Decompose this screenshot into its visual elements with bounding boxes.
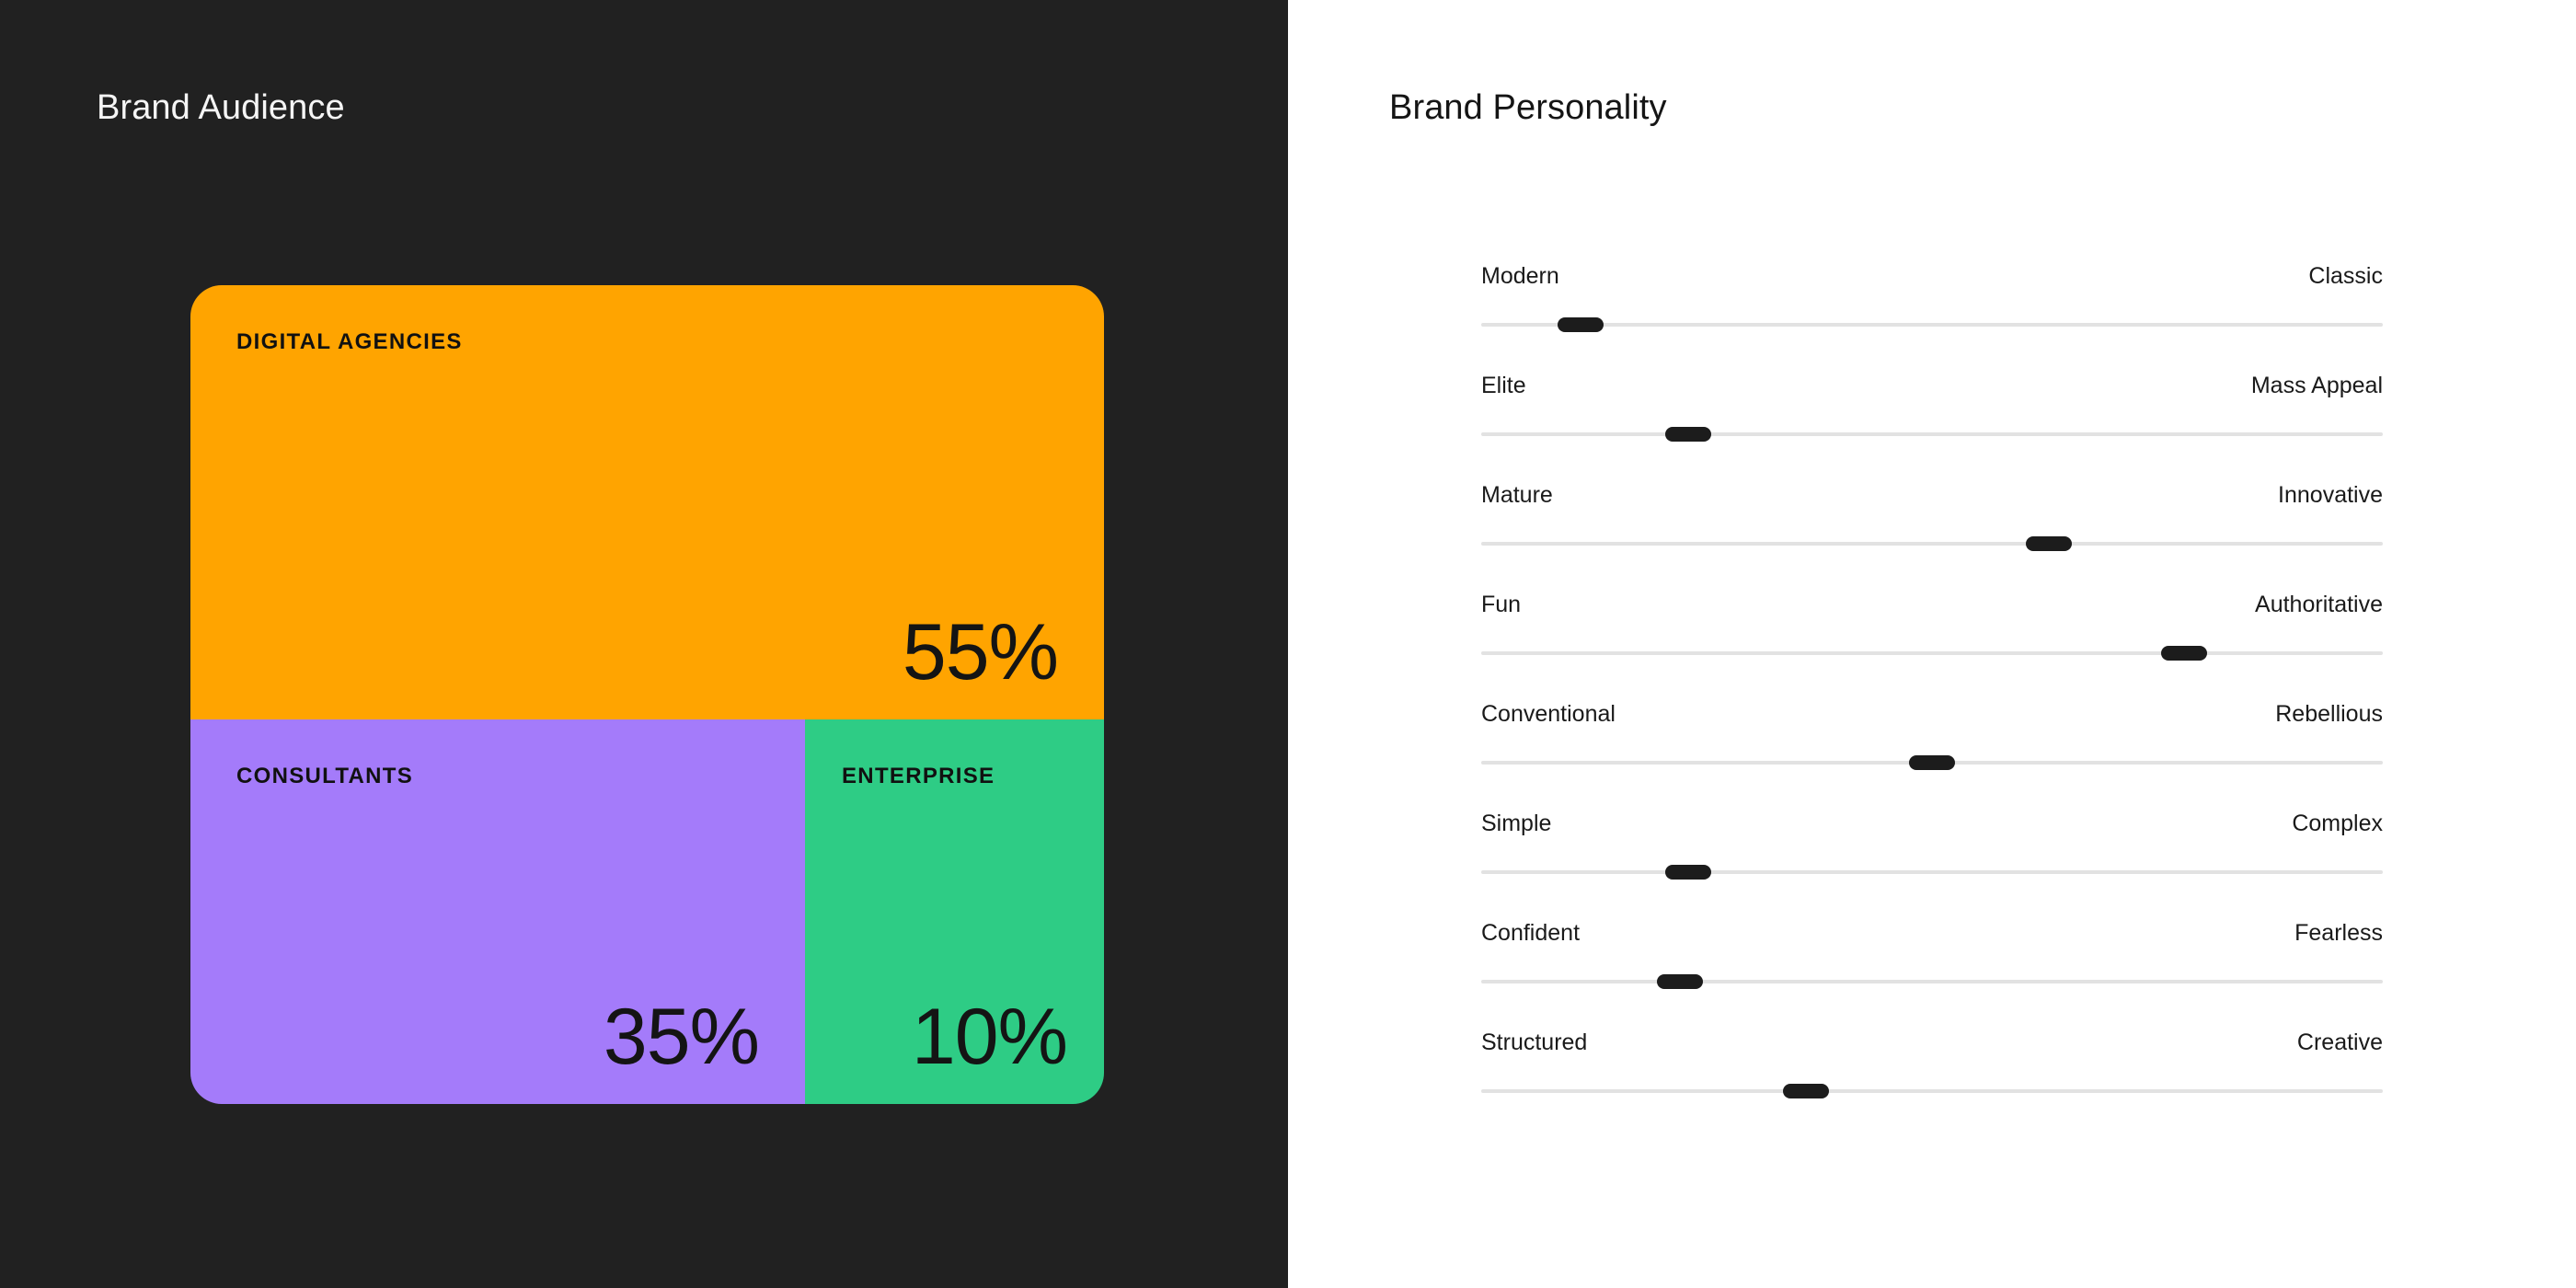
treemap-tile-label: ENTERPRISE (842, 764, 995, 789)
slider-track[interactable] (1481, 1089, 2383, 1093)
slider-track[interactable] (1481, 323, 2383, 327)
slider-label-left: Elite (1481, 372, 1526, 399)
slider-label-pair: MatureInnovative (1481, 481, 2383, 509)
slider-track-wrap[interactable] (1481, 425, 2383, 443)
treemap-row-bottom: CONSULTANTS 35% ENTERPRISE 10% (190, 719, 1104, 1104)
slider-label-pair: FunAuthoritative (1481, 591, 2383, 618)
slider-handle[interactable] (1657, 974, 1703, 989)
slider-label-left: Fun (1481, 591, 1521, 618)
treemap-tile-digital-agencies[interactable]: DIGITAL AGENCIES 55% (190, 285, 1104, 719)
treemap-tile-value: 55% (903, 613, 1058, 692)
treemap-tile-consultants[interactable]: CONSULTANTS 35% (190, 719, 805, 1104)
slider-handle[interactable] (1558, 317, 1604, 332)
slider-label-right: Rebellious (2275, 700, 2383, 728)
slider-handle[interactable] (1665, 865, 1711, 880)
brand-audience-title: Brand Audience (97, 88, 345, 128)
slider-label-right: Complex (2292, 810, 2383, 837)
treemap-tile-enterprise[interactable]: ENTERPRISE 10% (805, 719, 1104, 1104)
treemap-tile-label: CONSULTANTS (236, 764, 413, 789)
personality-slider-row[interactable]: FunAuthoritative (1481, 591, 2383, 700)
slider-handle[interactable] (1783, 1084, 1829, 1098)
treemap-tile-value: 35% (604, 997, 759, 1076)
slider-label-left: Simple (1481, 810, 1551, 837)
brand-audience-panel: Brand Audience DIGITAL AGENCIES 55% CONS… (0, 0, 1288, 1288)
personality-slider-row[interactable]: ModernClassic (1481, 262, 2383, 372)
slider-label-pair: SimpleComplex (1481, 810, 2383, 837)
slider-label-right: Mass Appeal (2251, 372, 2383, 399)
slider-track[interactable] (1481, 432, 2383, 436)
slider-handle[interactable] (2026, 536, 2072, 551)
slider-track-wrap[interactable] (1481, 753, 2383, 772)
slider-label-left: Confident (1481, 919, 1580, 947)
brand-board: Brand Audience DIGITAL AGENCIES 55% CONS… (0, 0, 2576, 1288)
slider-label-right: Classic (2308, 262, 2383, 290)
slider-label-pair: ModernClassic (1481, 262, 2383, 290)
slider-track-wrap[interactable] (1481, 972, 2383, 991)
personality-slider-list: ModernClassicEliteMass AppealMatureInnov… (1481, 262, 2383, 1138)
personality-slider-row[interactable]: ConventionalRebellious (1481, 700, 2383, 810)
audience-treemap: DIGITAL AGENCIES 55% CONSULTANTS 35% ENT… (190, 285, 1104, 1104)
slider-label-pair: ConfidentFearless (1481, 919, 2383, 947)
slider-handle[interactable] (1909, 755, 1955, 770)
slider-track[interactable] (1481, 542, 2383, 546)
slider-label-pair: EliteMass Appeal (1481, 372, 2383, 399)
slider-label-left: Structured (1481, 1029, 1587, 1056)
personality-slider-row[interactable]: MatureInnovative (1481, 481, 2383, 591)
treemap-tile-value: 10% (912, 997, 1067, 1076)
slider-handle[interactable] (1665, 427, 1711, 442)
slider-track-wrap[interactable] (1481, 644, 2383, 662)
slider-track-wrap[interactable] (1481, 1082, 2383, 1100)
treemap-row-top: DIGITAL AGENCIES 55% (190, 285, 1104, 719)
slider-label-pair: StructuredCreative (1481, 1029, 2383, 1056)
personality-slider-row[interactable]: StructuredCreative (1481, 1029, 2383, 1138)
slider-track-wrap[interactable] (1481, 535, 2383, 553)
slider-track[interactable] (1481, 980, 2383, 983)
slider-track[interactable] (1481, 651, 2383, 655)
slider-label-right: Authoritative (2255, 591, 2383, 618)
treemap-tile-label: DIGITAL AGENCIES (236, 329, 463, 355)
slider-label-left: Mature (1481, 481, 1553, 509)
personality-slider-row[interactable]: ConfidentFearless (1481, 919, 2383, 1029)
slider-label-right: Fearless (2294, 919, 2383, 947)
slider-label-right: Creative (2297, 1029, 2383, 1056)
slider-label-right: Innovative (2278, 481, 2383, 509)
brand-personality-panel: Brand Personality ModernClassicEliteMass… (1288, 0, 2576, 1288)
slider-label-left: Conventional (1481, 700, 1616, 728)
personality-slider-row[interactable]: EliteMass Appeal (1481, 372, 2383, 481)
slider-track[interactable] (1481, 870, 2383, 874)
slider-track-wrap[interactable] (1481, 316, 2383, 334)
personality-slider-row[interactable]: SimpleComplex (1481, 810, 2383, 919)
slider-label-pair: ConventionalRebellious (1481, 700, 2383, 728)
slider-label-left: Modern (1481, 262, 1559, 290)
slider-handle[interactable] (2161, 646, 2207, 661)
slider-track-wrap[interactable] (1481, 863, 2383, 881)
brand-personality-title: Brand Personality (1389, 88, 1667, 128)
